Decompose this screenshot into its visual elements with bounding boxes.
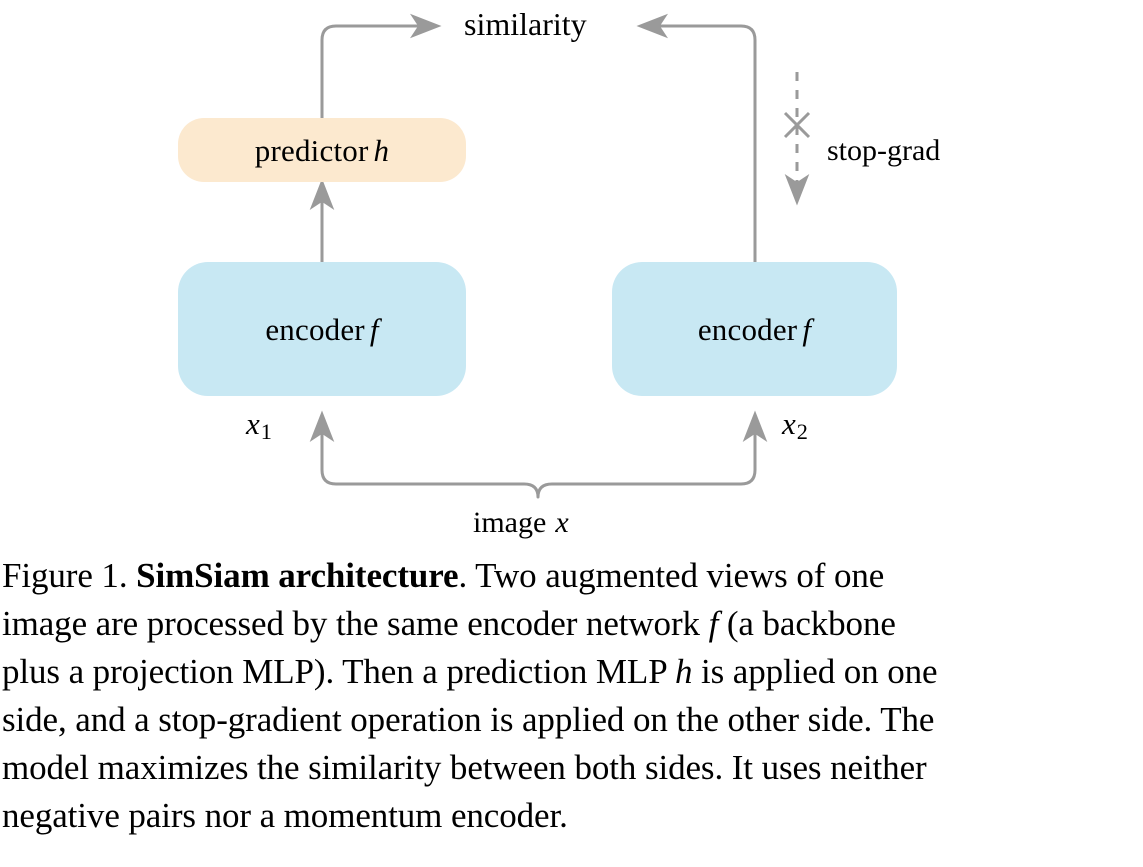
caption-math-variable: h xyxy=(675,652,692,691)
encoder-left-node: encoderf xyxy=(178,262,466,396)
similarity-label: similarity xyxy=(464,8,587,40)
caption-line: side, and a stop-gradient operation is a… xyxy=(2,696,1141,744)
caption-line: image are processed by the same encoder … xyxy=(2,600,1141,648)
caption-text: negative pairs nor a momentum encoder. xyxy=(2,796,568,835)
x2-variable: x xyxy=(782,406,796,441)
encoder-right-node-variable: f xyxy=(797,314,811,345)
caption-text: is applied on one xyxy=(692,652,937,691)
x1-subscript: 1 xyxy=(260,419,272,444)
x2-label: x2 xyxy=(782,408,808,443)
image-x-variable: x xyxy=(546,506,568,539)
predictor-node-label: predictor xyxy=(255,135,369,166)
x1-label: x1 xyxy=(246,408,272,443)
edge-encoder-right-to-similarity xyxy=(650,26,755,262)
image-x-text: image xyxy=(473,506,546,539)
diagram-connectors xyxy=(0,0,1143,556)
caption-text: (a backbone xyxy=(718,604,896,643)
figure-container: predictorh encoderf encoderf similarity … xyxy=(0,0,1143,867)
predictor-node-variable: h xyxy=(369,135,390,166)
encoder-left-node-variable: f xyxy=(365,314,379,345)
caption-bold-title: SimSiam architecture xyxy=(136,556,458,595)
x1-variable: x xyxy=(246,406,260,441)
caption-text: image are processed by the same encoder … xyxy=(2,604,709,643)
encoder-right-node: encoderf xyxy=(612,262,897,396)
encoder-left-node-label: encoder xyxy=(265,314,365,345)
stop-grad-label: stop-grad xyxy=(827,136,940,166)
caption-line: plus a projection MLP). Then a predictio… xyxy=(2,648,1141,696)
simsiam-architecture-diagram: predictorh encoderf encoderf similarity … xyxy=(0,0,1143,556)
edge-image-to-encoders-brace xyxy=(322,424,755,497)
caption-text: side, and a stop-gradient operation is a… xyxy=(2,700,934,739)
caption-line: Figure 1. SimSiam architecture. Two augm… xyxy=(2,552,1141,600)
caption-line: negative pairs nor a momentum encoder. xyxy=(2,792,1141,840)
caption-text: model maximizes the similarity between b… xyxy=(2,748,927,787)
image-x-label: imagex xyxy=(473,508,569,538)
caption-line: model maximizes the similarity between b… xyxy=(2,744,1141,792)
caption-text: plus a projection MLP). Then a predictio… xyxy=(2,652,675,691)
predictor-node: predictorh xyxy=(178,118,466,182)
caption-text: Figure 1. xyxy=(2,556,136,595)
caption-math-variable: f xyxy=(709,604,719,643)
caption-text: . Two augmented views of one xyxy=(459,556,885,595)
figure-caption: Figure 1. SimSiam architecture. Two augm… xyxy=(2,552,1141,840)
encoder-right-node-label: encoder xyxy=(698,314,798,345)
x2-subscript: 2 xyxy=(796,419,808,444)
